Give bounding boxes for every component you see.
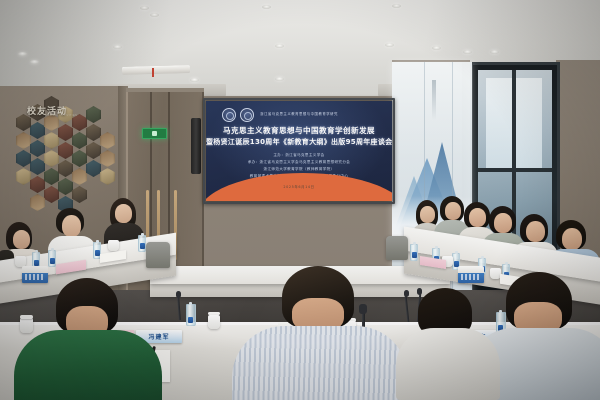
tissue-box[interactable]: [22, 272, 48, 283]
meeting-room-photo: 校友活动 ALUMNI ACTIVITIES 浙江省马克思主义教育思想与中国教育…: [0, 0, 600, 400]
tissue-box-top: [458, 266, 484, 273]
screen-organizer-banner: 浙江省马克思主义教育思想与中国教育学研究: [206, 111, 392, 116]
tissue-box-top: [22, 266, 48, 273]
alumni-wall-subtitle: ALUMNI ACTIVITIES: [46, 114, 77, 117]
water-bottle[interactable]: [410, 244, 418, 261]
screen-title-line-2: 暨杨贤江诞辰130周年《新教育大纲》出版95周年座谈会: [206, 137, 392, 147]
downlight-icon: [392, 4, 401, 8]
screen-date: 2025年6月14日: [206, 184, 392, 189]
vent-marker: [152, 68, 154, 77]
cup-lid[interactable]: [20, 315, 33, 319]
meeting-chair[interactable]: [386, 236, 408, 260]
downlight-icon: [30, 60, 39, 64]
microphone-head: [176, 291, 181, 298]
water-bottle[interactable]: [48, 250, 56, 267]
projection-screen: 浙江省马克思主义教育思想与中国教育学研究 马克思主义教育思想与中国教育学创新发展…: [206, 101, 392, 201]
downlight-icon: [463, 50, 472, 54]
water-bottle[interactable]: [138, 235, 146, 252]
downlight-icon: [275, 44, 284, 48]
downlight-icon: [275, 77, 284, 81]
downlight-icon: [385, 43, 394, 47]
window-mullion: [512, 70, 516, 260]
screen-title-line-1: 马克思主义教育思想与中国教育学创新发展: [206, 125, 392, 136]
downlight-icon: [113, 45, 122, 49]
name-card-text: 冯建军: [148, 332, 169, 341]
downlight-icon: [140, 6, 149, 10]
tea-cup[interactable]: [20, 318, 33, 333]
tissue-box[interactable]: [458, 272, 484, 283]
water-bottle[interactable]: [186, 304, 196, 326]
screen-cohost-1: 承办：浙江省马克思主义学会马克思主义教育思想研究分会: [206, 160, 392, 165]
microphone-head: [417, 288, 422, 295]
wall-speaker-icon: [191, 118, 201, 174]
downlight-icon: [262, 5, 271, 9]
screen-host-label: 主办：浙江省马克思主义学会: [206, 153, 392, 158]
screen-cohost-2: 浙江师范大学教育学院（教师教育学院）: [206, 167, 392, 172]
ink-brush-accent: [432, 80, 436, 120]
downlight-icon: [150, 13, 159, 17]
microphone-head: [404, 290, 409, 297]
downlight-icon: [432, 46, 441, 50]
downlight-icon: [190, 78, 199, 82]
tea-cup[interactable]: [108, 240, 119, 251]
downlight-icon: [490, 50, 499, 54]
downlight-icon: [18, 52, 27, 56]
exit-sign-icon: [142, 128, 167, 139]
tea-cup[interactable]: [208, 315, 220, 329]
meeting-chair[interactable]: [146, 242, 170, 268]
